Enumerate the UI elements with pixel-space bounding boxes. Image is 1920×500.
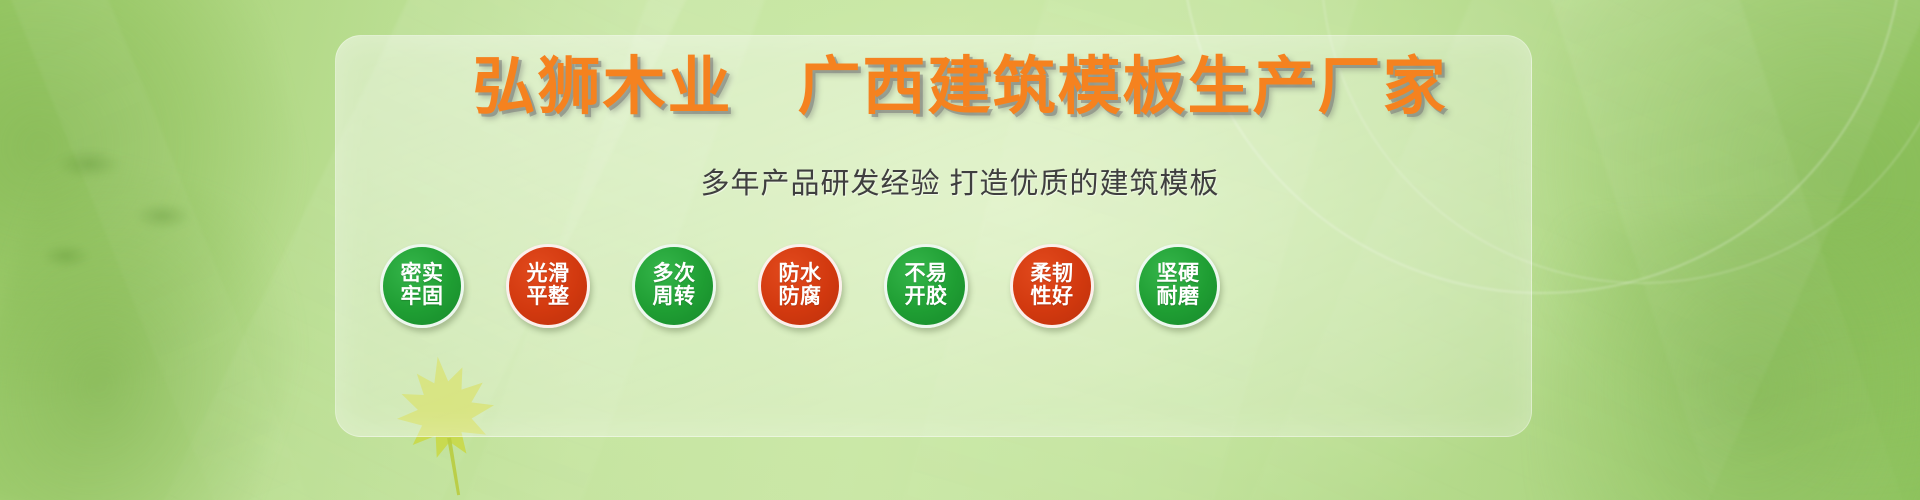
feature-badge-line1: 柔韧 [1031,263,1074,286]
feature-badge-line1: 多次 [653,263,696,286]
page-title: 弘狮木业 广西建筑模板生产厂家 [0,56,1920,119]
feature-badge-line1: 光滑 [527,263,570,286]
feature-badge-line1: 防水 [779,263,822,286]
feature-badge[interactable]: 防水防腐 [758,244,842,328]
feature-badge-line2: 耐磨 [1157,286,1200,309]
feature-badge[interactable]: 坚硬耐磨 [1136,244,1220,328]
leaf-shape-right-lower [1540,220,1920,500]
leaf-twig-icon [20,120,250,320]
page-subtitle: 多年产品研发经验 打造优质的建筑模板 [0,167,1920,202]
feature-badge-line2: 周转 [653,286,696,309]
promo-banner: 弘狮木业 广西建筑模板生产厂家 多年产品研发经验 打造优质的建筑模板 密实牢固光… [0,0,1920,500]
feature-badge[interactable]: 密实牢固 [380,244,464,328]
feature-badge-line2: 防腐 [779,286,822,309]
feature-badge-line1: 不易 [905,263,948,286]
feature-badge[interactable]: 光滑平整 [506,244,590,328]
feature-badge-line2: 平整 [527,286,570,309]
feature-badge-line2: 性好 [1031,286,1074,309]
feature-badge[interactable]: 柔韧性好 [1010,244,1094,328]
feature-badge-line1: 密实 [401,263,444,286]
feature-badge-line2: 开胶 [905,286,948,309]
feature-badge-line1: 坚硬 [1157,263,1200,286]
feature-badge[interactable]: 不易开胶 [884,244,968,328]
feature-badge-row: 密实牢固光滑平整多次周转防水防腐不易开胶柔韧性好坚硬耐磨 [380,238,1220,334]
feature-badge-line2: 牢固 [401,286,444,309]
feature-badge[interactable]: 多次周转 [632,244,716,328]
